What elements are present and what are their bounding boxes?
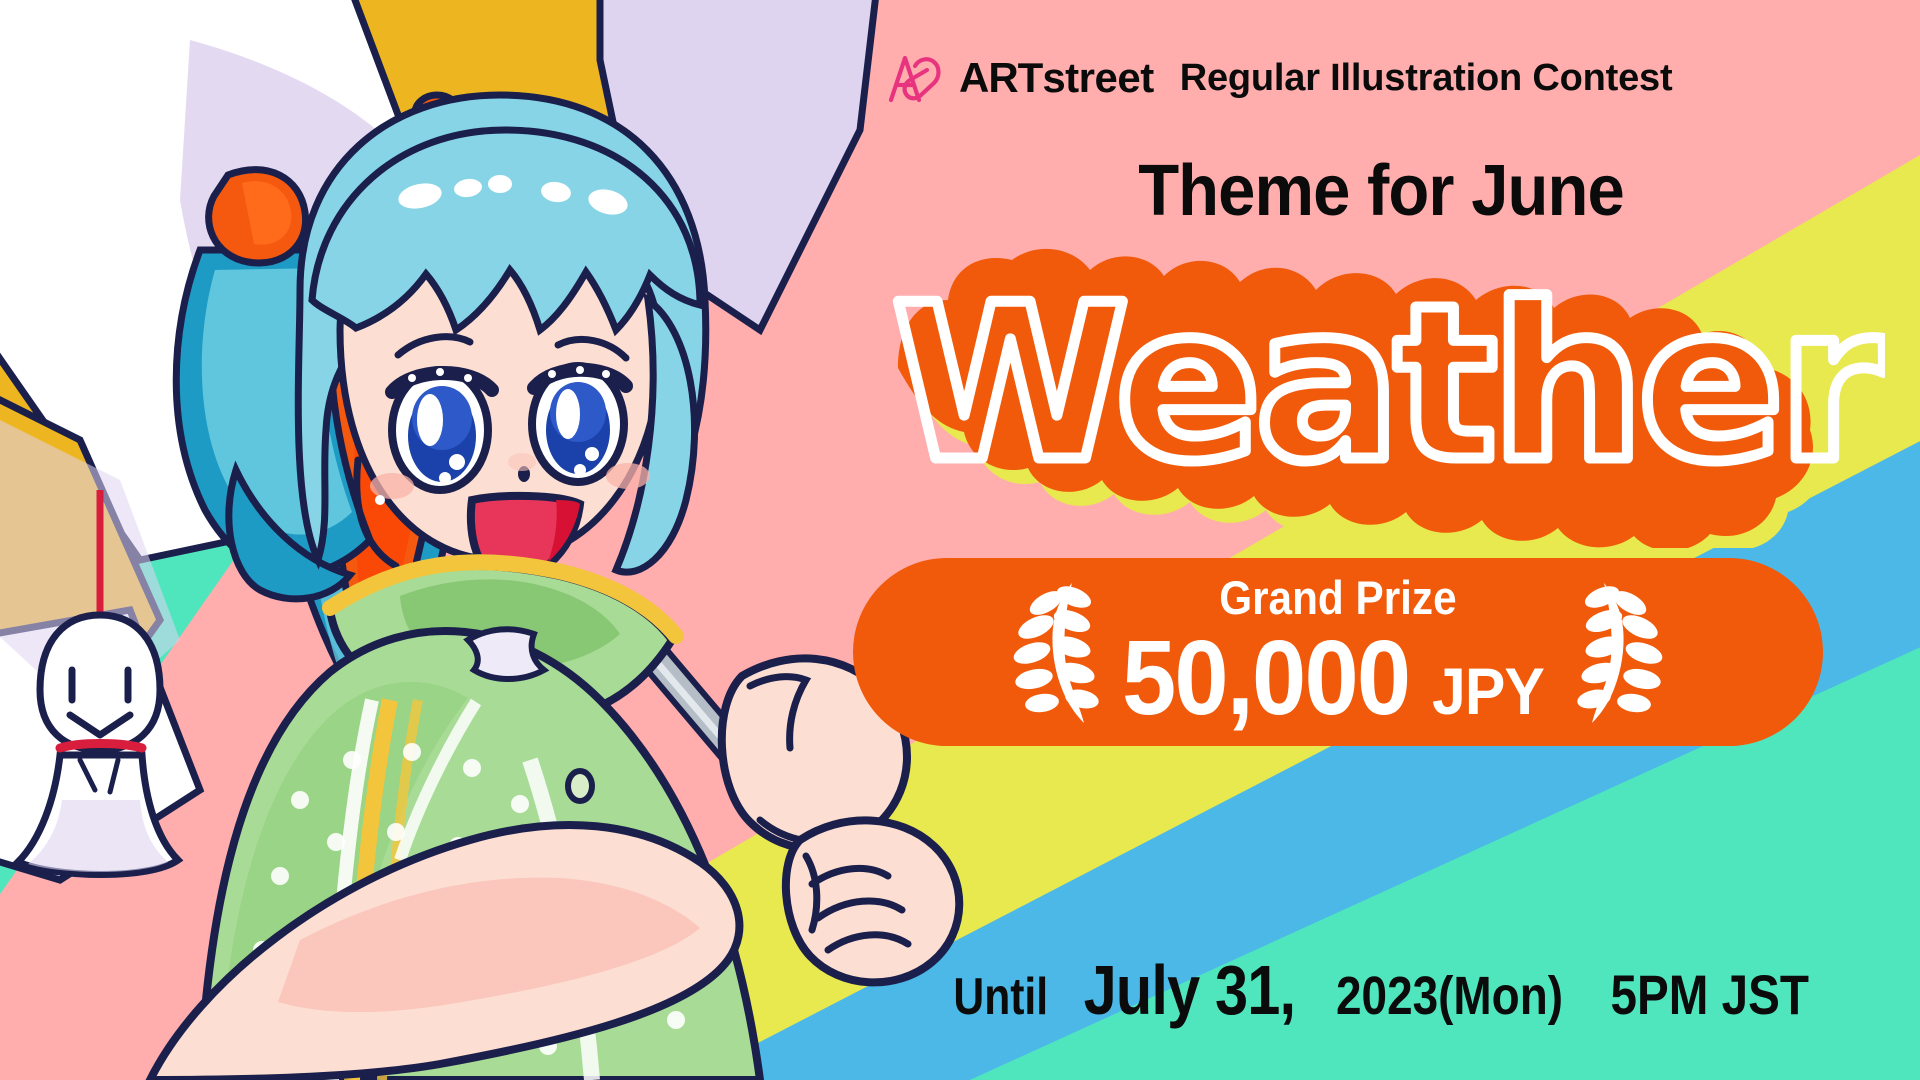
contest-title: Regular Illustration Contest bbox=[1180, 59, 1673, 97]
coat-button-1 bbox=[568, 771, 592, 801]
deadline-time: 5PM JST bbox=[1611, 967, 1809, 1023]
prize-amount: 50,000 bbox=[1122, 625, 1409, 731]
deadline-date: July 31, bbox=[1084, 955, 1296, 1025]
theme-word-art: Weather bbox=[840, 248, 1920, 548]
svg-text:Weather: Weather bbox=[892, 268, 1884, 509]
banner-content: ARTstreet Regular Illustration Contest T… bbox=[860, 0, 1920, 1080]
deadline-year-day: 2023(Mon) bbox=[1336, 969, 1563, 1023]
brand-street: street bbox=[1042, 54, 1153, 101]
right-eye bbox=[532, 366, 626, 482]
deadline-line: Until July 31,2023(Mon)5PM JST bbox=[860, 955, 1910, 1025]
girl-head bbox=[298, 95, 706, 579]
left-eye bbox=[392, 368, 492, 490]
prize-amount-row: 50,000 JPY bbox=[1122, 625, 1554, 731]
theme-label: Theme for June bbox=[896, 150, 1865, 232]
contest-banner: ARTstreet Regular Illustration Contest T… bbox=[0, 0, 1920, 1080]
grand-prize-label: Grand Prize bbox=[1219, 574, 1456, 621]
laurel-branch-icon bbox=[1010, 577, 1106, 727]
weather-outline-text: Weather bbox=[885, 268, 1885, 528]
prize-currency: JPY bbox=[1432, 658, 1544, 724]
brand-wordmark: ARTstreet bbox=[959, 57, 1154, 99]
artstreet-as-paperclip-logo-icon bbox=[885, 52, 945, 104]
banner-header: ARTstreet Regular Illustration Contest bbox=[885, 52, 1672, 104]
brand-art: ART bbox=[959, 54, 1042, 101]
grand-prize-badge: Grand Prize 50,000 JPY bbox=[853, 558, 1823, 746]
laurel-branch-icon bbox=[1570, 577, 1666, 727]
theme-word-text-layer: Weather bbox=[840, 248, 1920, 548]
deadline-until: Until bbox=[954, 971, 1049, 1023]
